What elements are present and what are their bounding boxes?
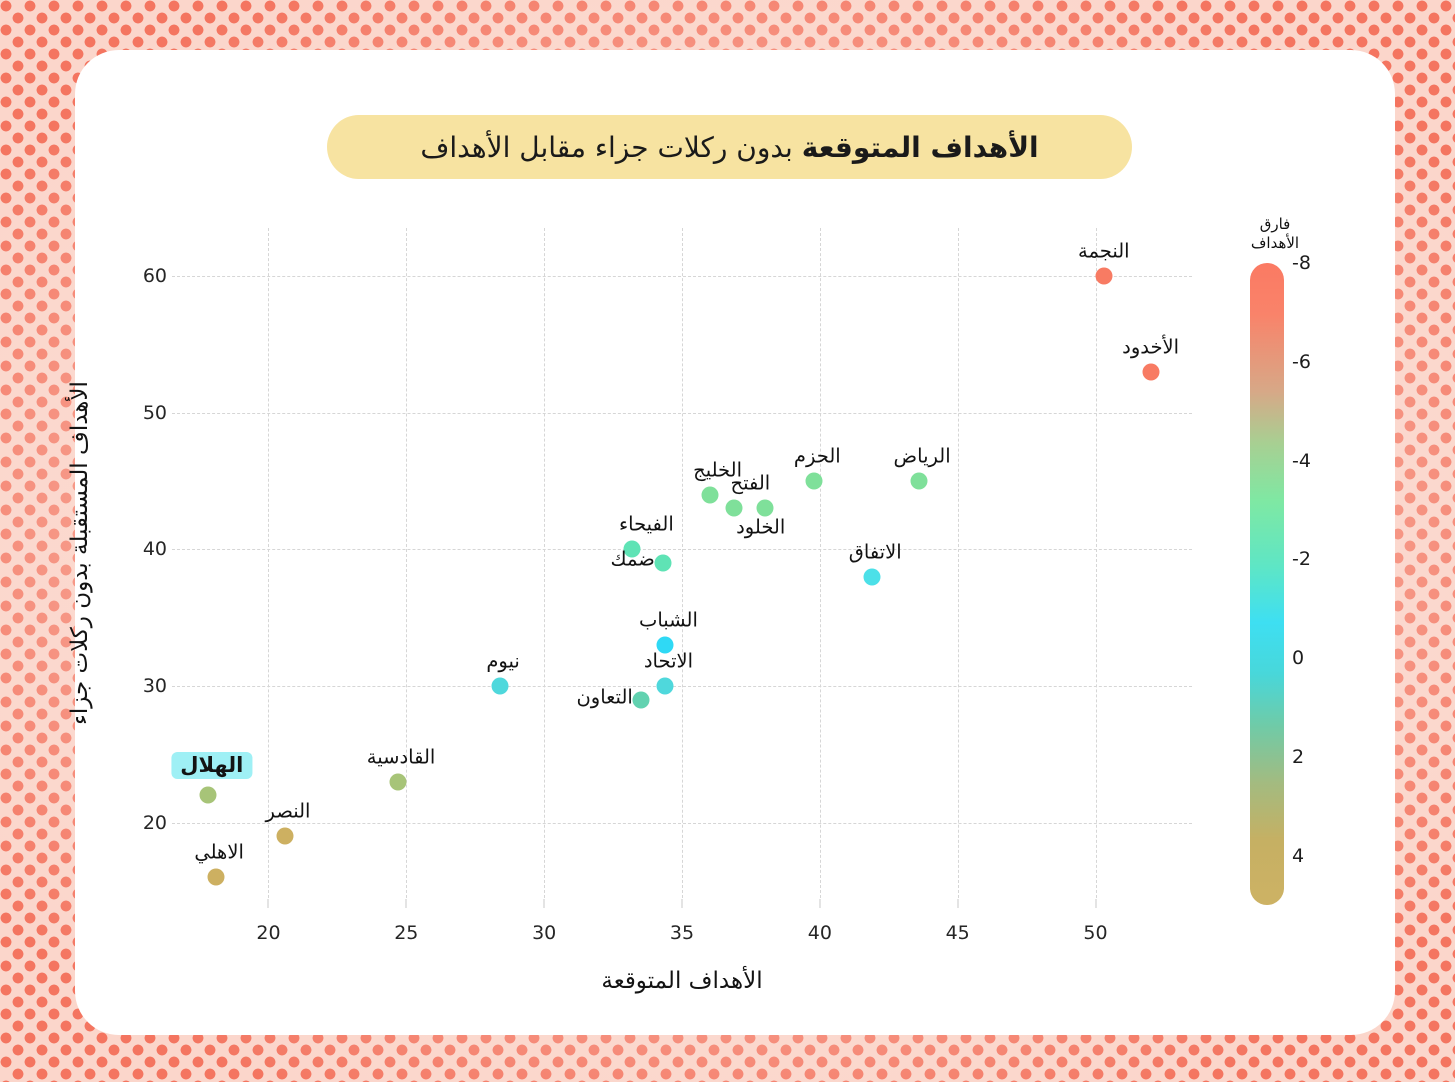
colorbar-tick-label: -8 — [1292, 252, 1311, 274]
gridline-vertical — [268, 228, 269, 898]
x-axis-tick-mark — [406, 899, 407, 908]
colorbar-tick-label: -6 — [1292, 351, 1311, 373]
data-point-label: الخلود — [736, 518, 785, 538]
y-axis-tick-label: 60 — [125, 265, 167, 287]
data-point[interactable] — [1095, 267, 1112, 284]
chart-title-strong: الأهداف المتوقعة — [802, 131, 1039, 164]
data-point[interactable] — [911, 472, 928, 489]
x-axis-title: الأهداف المتوقعة — [172, 968, 1192, 994]
chart-title: الأهداف المتوقعة بدون ركلات جزاء مقابل ا… — [420, 131, 1038, 164]
colorbar-tick-label: -2 — [1292, 548, 1311, 570]
x-axis-tick-label: 45 — [946, 922, 970, 944]
data-point[interactable] — [654, 555, 671, 572]
data-point-label: الأخدود — [1122, 337, 1179, 357]
data-point[interactable] — [806, 472, 823, 489]
data-point[interactable] — [277, 828, 294, 845]
y-axis-tick-label: 20 — [125, 812, 167, 834]
data-point[interactable] — [390, 773, 407, 790]
gridline-horizontal — [172, 413, 1192, 414]
chart-title-pill: الأهداف المتوقعة بدون ركلات جزاء مقابل ا… — [327, 115, 1132, 179]
data-point[interactable] — [701, 486, 718, 503]
colorbar-tick-label: 2 — [1292, 746, 1304, 768]
data-point[interactable] — [756, 500, 773, 517]
x-axis-tick-mark — [1095, 899, 1096, 908]
colorbar-title: فارق الأهداف — [1232, 215, 1318, 253]
data-point[interactable] — [208, 869, 225, 886]
gridline-horizontal — [172, 276, 1192, 277]
x-axis-tick-mark — [268, 899, 269, 908]
data-point-label: الاهلي — [194, 843, 244, 863]
y-axis-title: الأهداف المستقبلة بدون ركلات جزاء — [67, 243, 93, 863]
data-point-label: الاتفاق — [849, 542, 902, 562]
colorbar-title-line1: فارق — [1232, 215, 1318, 234]
data-point[interactable] — [726, 500, 743, 517]
data-point-label: الاتحاد — [644, 652, 693, 672]
data-point-label: الفتح — [731, 474, 771, 494]
y-axis-tick-label: 40 — [125, 538, 167, 560]
data-point-label: نيوم — [486, 652, 519, 672]
x-axis-tick-mark — [544, 899, 545, 908]
x-axis-tick-mark — [819, 899, 820, 908]
data-point[interactable] — [632, 691, 649, 708]
x-axis-tick-label: 30 — [532, 922, 556, 944]
scatter-plot-area: النجمةالأخدودالحزمالرياضالخليجالفتحالخلو… — [172, 228, 1192, 898]
data-point[interactable] — [657, 678, 674, 695]
colorbar-tick-label: -4 — [1292, 450, 1311, 472]
gridline-horizontal — [172, 823, 1192, 824]
x-axis-tick-mark — [957, 899, 958, 908]
x-axis-tick-label: 35 — [670, 922, 694, 944]
gridline-horizontal — [172, 686, 1192, 687]
data-point-label: النصر — [266, 802, 311, 822]
data-point[interactable] — [199, 787, 216, 804]
data-point[interactable] — [1142, 363, 1159, 380]
data-point[interactable] — [864, 568, 881, 585]
x-axis-tick-label: 20 — [256, 922, 280, 944]
colorbar-tick-label: 0 — [1292, 647, 1304, 669]
data-point-label: الحزم — [794, 446, 841, 466]
gridline-horizontal — [172, 549, 1192, 550]
gridline-vertical — [1096, 228, 1097, 898]
data-point[interactable] — [492, 678, 509, 695]
x-axis-tick-mark — [682, 899, 683, 908]
gridline-vertical — [406, 228, 407, 898]
x-axis-tick-label: 25 — [394, 922, 418, 944]
colorbar-gradient — [1250, 263, 1284, 905]
gridline-vertical — [682, 228, 683, 898]
data-point-label: الرياض — [894, 446, 951, 466]
data-point-label: الفيحاء — [619, 515, 674, 535]
data-point-label: التعاون — [576, 687, 632, 707]
colorbar-tick-label: 4 — [1292, 845, 1304, 867]
x-axis-tick-label: 50 — [1083, 922, 1107, 944]
data-point-label: الشباب — [639, 611, 698, 631]
data-point-label: النجمة — [1078, 241, 1130, 261]
gridline-vertical — [820, 228, 821, 898]
data-point-label: القادسية — [367, 747, 436, 767]
data-point-label: الهلال — [171, 752, 252, 779]
y-axis-tick-label: 30 — [125, 675, 167, 697]
x-axis-tick-label: 40 — [808, 922, 832, 944]
colorbar-title-line2: الأهداف — [1232, 234, 1318, 253]
gridline-vertical — [544, 228, 545, 898]
y-axis-tick-label: 50 — [125, 402, 167, 424]
gridline-vertical — [958, 228, 959, 898]
chart-title-rest: بدون ركلات جزاء مقابل الأهداف — [420, 131, 801, 164]
data-point-label: ضمك — [611, 550, 655, 570]
